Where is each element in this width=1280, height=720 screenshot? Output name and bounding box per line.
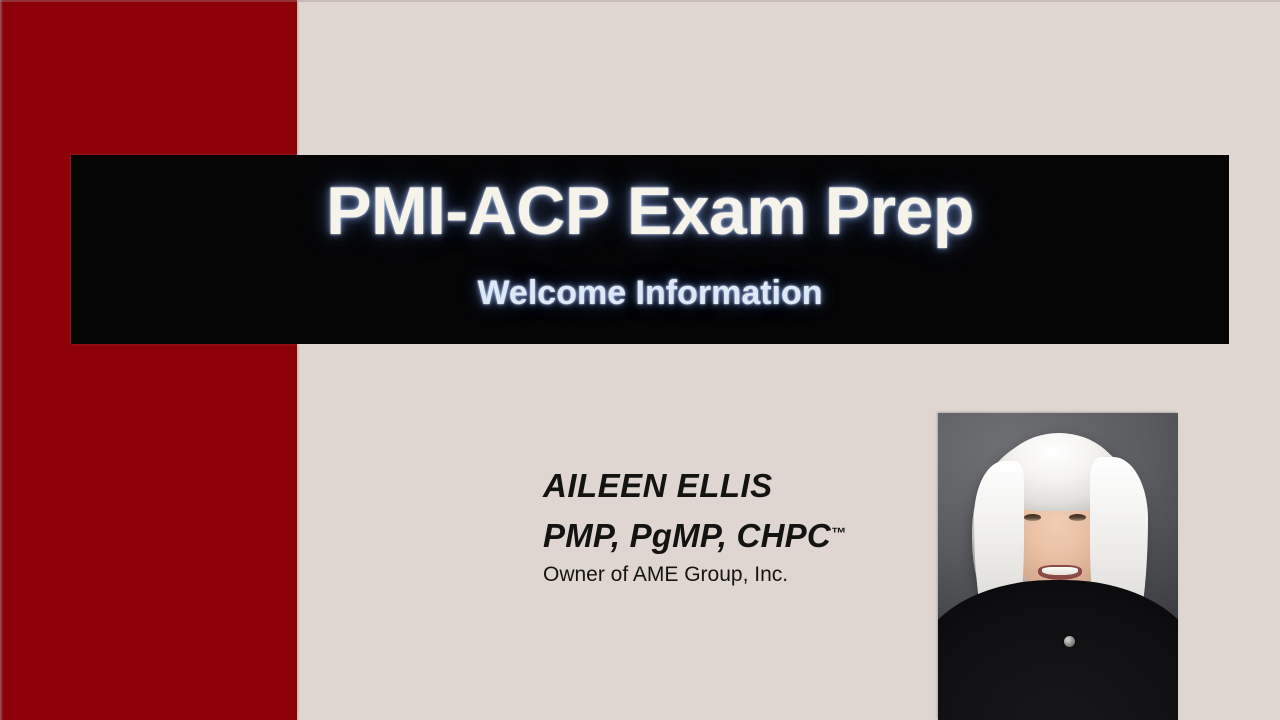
presenter-role: Owner of AME Group, Inc. (543, 564, 933, 585)
presenter-photo (938, 413, 1178, 720)
presentation-slide: PMI-ACP Exam Prep Welcome Information AI… (0, 0, 1280, 720)
presenter-name: AILEEN ELLIS (543, 469, 933, 502)
photo-eye-right (1069, 514, 1086, 521)
presenter-credentials-text: PMP, PgMP, CHPC (543, 517, 831, 554)
trademark-symbol: ™ (831, 525, 846, 542)
left-red-accent-band (0, 0, 297, 720)
presenter-block: AILEEN ELLIS PMP, PgMP, CHPC™ Owner of A… (543, 469, 933, 585)
title-banner: PMI-ACP Exam Prep Welcome Information (71, 155, 1229, 344)
photo-mouth (1038, 565, 1082, 580)
page-title: PMI-ACP Exam Prep (71, 177, 1229, 245)
page-subtitle: Welcome Information (71, 276, 1229, 310)
photo-eye-left (1024, 514, 1041, 521)
photo-shoulders (938, 580, 1178, 720)
presenter-credentials: PMP, PgMP, CHPC™ (543, 519, 933, 552)
